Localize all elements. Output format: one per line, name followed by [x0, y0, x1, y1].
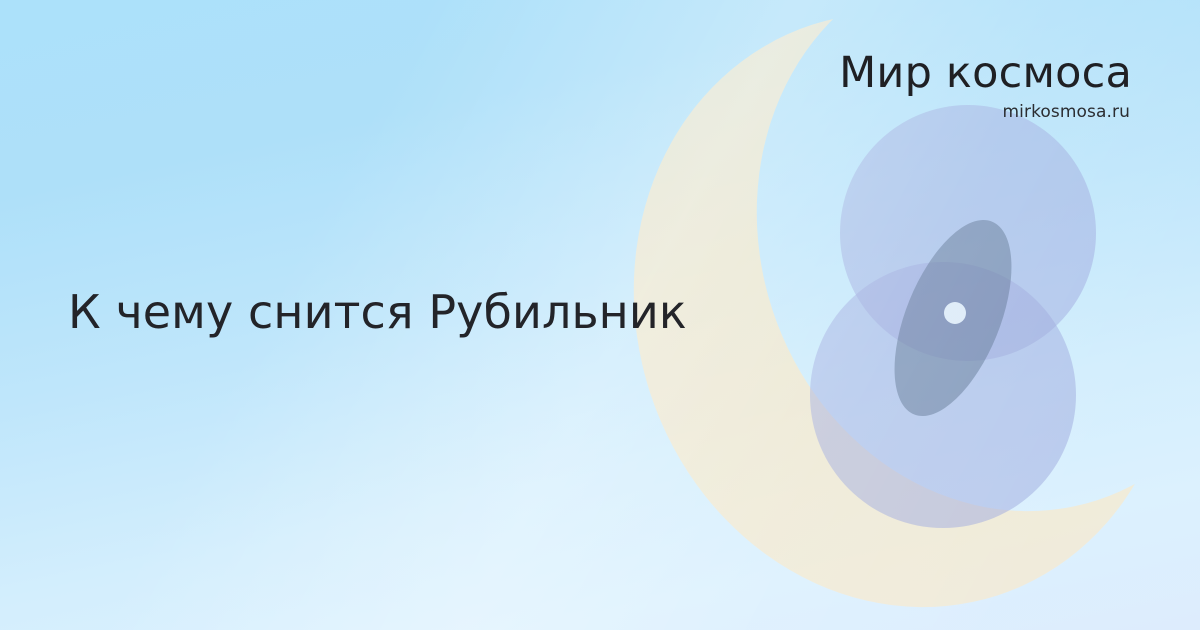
social-share-card: Мир космоса mirkosmosa.ru К чему снится …: [0, 0, 1200, 630]
brand-url: mirkosmosa.ru: [839, 104, 1130, 121]
page-title: К чему снится Рубильник: [68, 286, 687, 339]
brand-title: Мир космоса: [839, 52, 1132, 95]
brand-lockup: Мир космоса mirkosmosa.ru: [839, 52, 1132, 121]
center-dot: [944, 302, 966, 324]
